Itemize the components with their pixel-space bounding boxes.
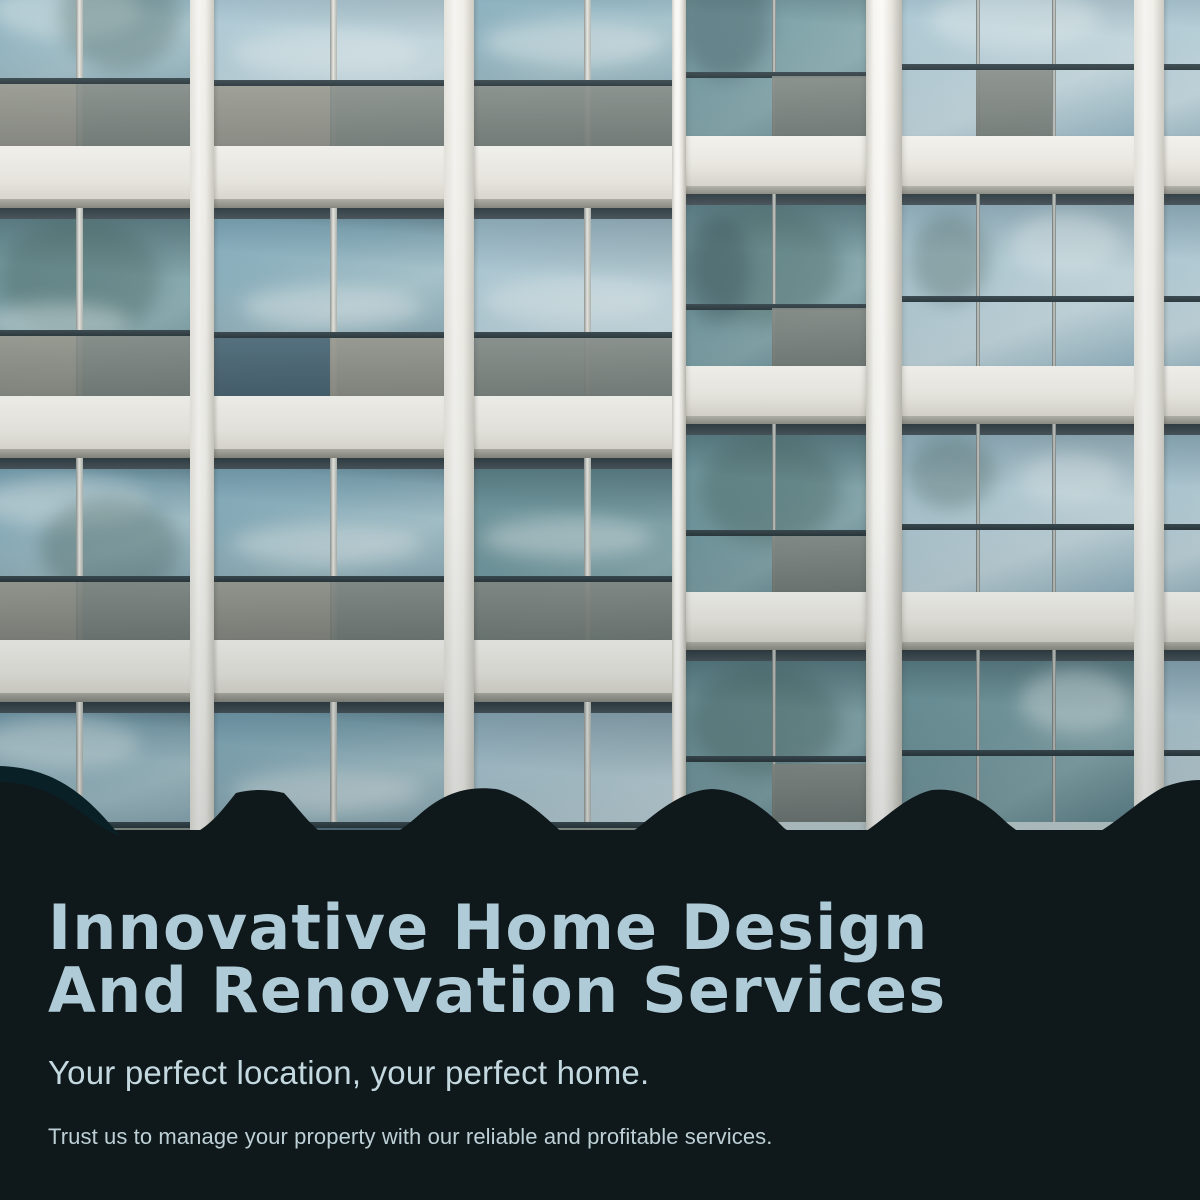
concrete-spandrel: [672, 136, 1200, 194]
concrete-column: [1134, 0, 1164, 830]
window-bay: [900, 194, 1134, 366]
concrete-column: [444, 0, 474, 830]
window-bay: [212, 208, 444, 396]
building-edge: [672, 0, 686, 830]
window-bay: [1162, 424, 1200, 592]
window-bay: [0, 702, 190, 830]
window-bay: [0, 0, 190, 146]
window-bay: [900, 650, 1134, 822]
window-bay: [212, 0, 444, 146]
tagline: Your perfect location, your perfect home…: [48, 1054, 649, 1092]
window-bay: [472, 0, 700, 146]
concrete-column: [190, 0, 214, 830]
right-building: [672, 0, 1200, 830]
smallprint: Trust us to manage your property with ou…: [48, 1124, 772, 1150]
window-bay: [680, 0, 866, 136]
corner-column: [866, 0, 902, 830]
window-bay: [1162, 0, 1200, 136]
window-bay: [900, 424, 1134, 592]
window-bay: [472, 458, 700, 640]
concrete-spandrel: [0, 640, 700, 702]
copy-block: Innovative Home Design And Renovation Se…: [48, 896, 1168, 1022]
window-bay: [212, 458, 444, 640]
window-bay: [1162, 650, 1200, 822]
concrete-spandrel: [0, 146, 700, 208]
promo-poster: Innovative Home Design And Renovation Se…: [0, 0, 1200, 1200]
concrete-spandrel: [672, 592, 1200, 650]
page-title: Innovative Home Design And Renovation Se…: [48, 896, 1168, 1022]
window-bay: [900, 0, 1134, 136]
window-bay: [680, 194, 866, 366]
window-bay: [680, 650, 866, 822]
window-bay: [1162, 194, 1200, 366]
left-building: [0, 0, 700, 830]
window-bay: [212, 702, 444, 830]
window-bay: [472, 208, 700, 396]
window-bay: [680, 424, 866, 592]
building-photo: [0, 0, 1200, 830]
concrete-spandrel: [0, 396, 700, 458]
window-bay: [0, 458, 190, 640]
concrete-spandrel: [672, 366, 1200, 424]
window-bay: [472, 702, 700, 830]
window-bay: [0, 208, 190, 396]
